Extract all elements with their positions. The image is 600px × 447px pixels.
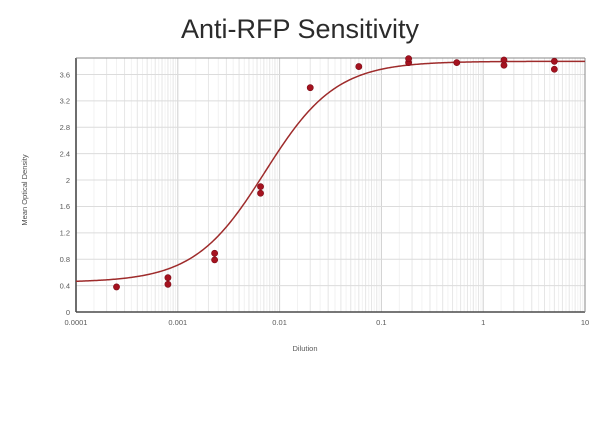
y-tick-label: 2 [66, 176, 70, 185]
y-axis-title: Mean Optical Density [20, 154, 29, 226]
data-point [307, 85, 313, 91]
y-tick-label: 3.2 [60, 97, 70, 106]
data-point [113, 284, 119, 290]
y-tick-label: 0.8 [60, 255, 70, 264]
x-tick-label: 10 [581, 318, 589, 327]
data-point [551, 66, 557, 72]
y-tick-label: 1.2 [60, 229, 70, 238]
data-point [212, 257, 218, 263]
y-tick-label: 2.4 [60, 149, 70, 158]
y-tick-label: 2.8 [60, 123, 70, 132]
data-point [212, 250, 218, 256]
y-axis-tick-labels: 00.40.81.21.622.42.83.23.6 [60, 70, 70, 317]
x-axis-title: Dilution [292, 344, 317, 353]
minor-gridlines-x [94, 58, 583, 312]
x-axis-tick-labels: 0.00010.0010.010.1110 [65, 318, 590, 327]
y-tick-label: 1.6 [60, 202, 70, 211]
data-point [165, 281, 171, 287]
data-point [454, 60, 460, 66]
x-tick-label: 0.01 [272, 318, 287, 327]
plot-canvas: 0.00010.0010.010.1110 00.40.81.21.622.42… [0, 0, 600, 447]
x-tick-label: 1 [481, 318, 485, 327]
y-tick-label: 0.4 [60, 281, 70, 290]
data-point [551, 58, 557, 64]
x-tick-label: 0.0001 [65, 318, 88, 327]
chart-figure: Anti-RFP Sensitivity 0.00010.0010.010.11… [0, 0, 600, 447]
data-point [257, 190, 263, 196]
y-tick-label: 0 [66, 308, 70, 317]
data-point [501, 57, 507, 63]
data-point [257, 184, 263, 190]
y-tick-label: 3.6 [60, 70, 70, 79]
fit-curve [76, 61, 585, 281]
data-point [356, 63, 362, 69]
x-tick-label: 0.1 [376, 318, 386, 327]
data-point [165, 275, 171, 281]
major-gridlines-y [76, 74, 585, 285]
x-tick-label: 0.001 [168, 318, 187, 327]
data-point [406, 56, 412, 62]
